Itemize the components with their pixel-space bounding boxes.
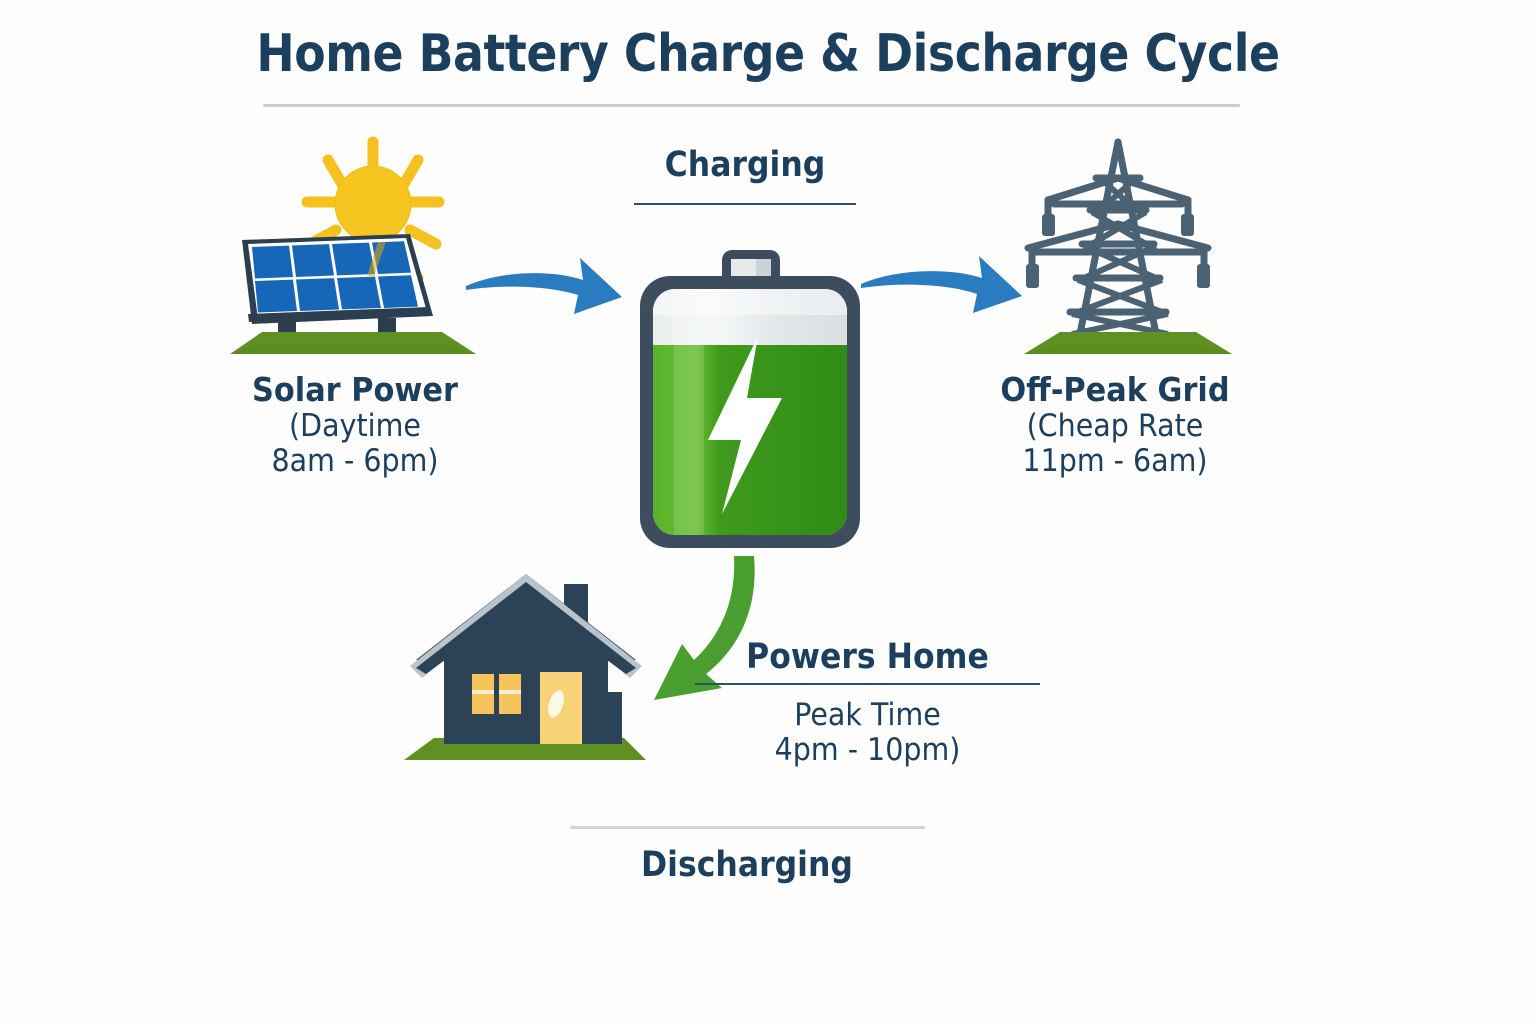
solar-panel-sun-icon <box>228 128 488 364</box>
grid-caption-line1: (Cheap Rate <box>977 409 1253 444</box>
solar-caption: Solar Power (Daytime 8am - 6pm) <box>205 372 505 478</box>
powers-home-underline <box>695 683 1040 685</box>
grid-caption-line2: 11pm - 6am) <box>977 444 1253 479</box>
page-title: Home Battery Charge & Discharge Cycle <box>92 24 1444 84</box>
home-caption-line2: 4pm - 10pm) <box>727 733 1008 768</box>
solar-caption-head: Solar Power <box>217 372 493 409</box>
battery-charging-icon <box>630 244 870 556</box>
curved-arrow-right-blue-icon-2 <box>858 248 1028 328</box>
home-caption-line1: Peak Time <box>727 698 1008 733</box>
grid-caption-head: Off-Peak Grid <box>977 372 1253 409</box>
grid-caption: Off-Peak Grid (Cheap Rate 11pm - 6am) <box>965 372 1265 478</box>
charging-underline <box>634 203 856 205</box>
solar-caption-line2: 8am - 6pm) <box>217 444 493 479</box>
section-label-charging: Charging <box>646 145 844 185</box>
house-icon <box>398 562 670 788</box>
title-divider <box>263 104 1240 107</box>
infographic-canvas: Home Battery Charge & Discharge Cycle Ch… <box>0 0 1536 1024</box>
curved-arrow-right-blue-icon <box>462 252 627 326</box>
home-caption: Peak Time 4pm - 10pm) <box>715 698 1020 767</box>
section-label-discharging: Discharging <box>590 845 905 885</box>
solar-caption-line1: (Daytime <box>217 409 493 444</box>
discharging-divider <box>570 826 925 829</box>
powers-home-label: Powers Home <box>712 637 1023 677</box>
transmission-pylon-icon <box>1018 126 1248 366</box>
